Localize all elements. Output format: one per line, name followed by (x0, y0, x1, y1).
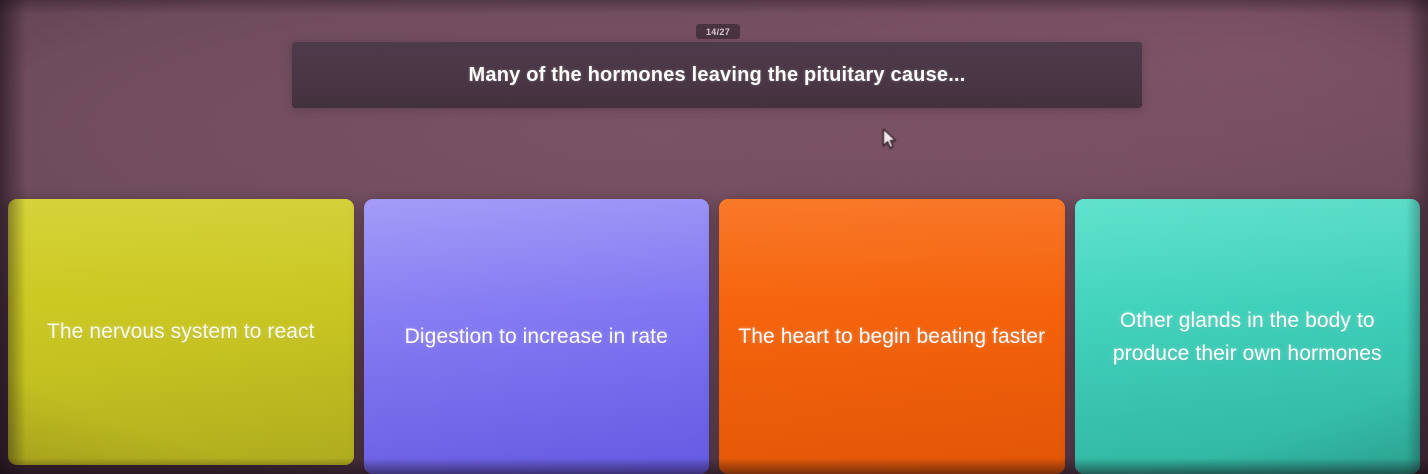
answer-option-3-label: The heart to begin beating faster (724, 320, 1059, 354)
answer-option-4[interactable]: Other glands in the body to produce thei… (1075, 199, 1421, 474)
quiz-screen: 14/27 Many of the hormones leaving the p… (0, 0, 1428, 474)
answer-option-1[interactable]: The nervous system to react (8, 199, 354, 465)
question-text: Many of the hormones leaving the pituita… (445, 64, 990, 87)
answer-option-2-label: Digestion to increase in rate (391, 320, 682, 354)
answer-option-1-label: The nervous system to react (33, 315, 329, 349)
question-progress-badge: 14/27 (696, 24, 740, 39)
answer-option-4-label: Other glands in the body to produce thei… (1075, 304, 1421, 370)
answer-options-grid: The nervous system to react Digestion to… (0, 199, 1428, 474)
question-panel: Many of the hormones leaving the pituita… (292, 42, 1142, 108)
answer-option-2[interactable]: Digestion to increase in rate (364, 199, 710, 474)
answer-option-3[interactable]: The heart to begin beating faster (719, 199, 1065, 474)
